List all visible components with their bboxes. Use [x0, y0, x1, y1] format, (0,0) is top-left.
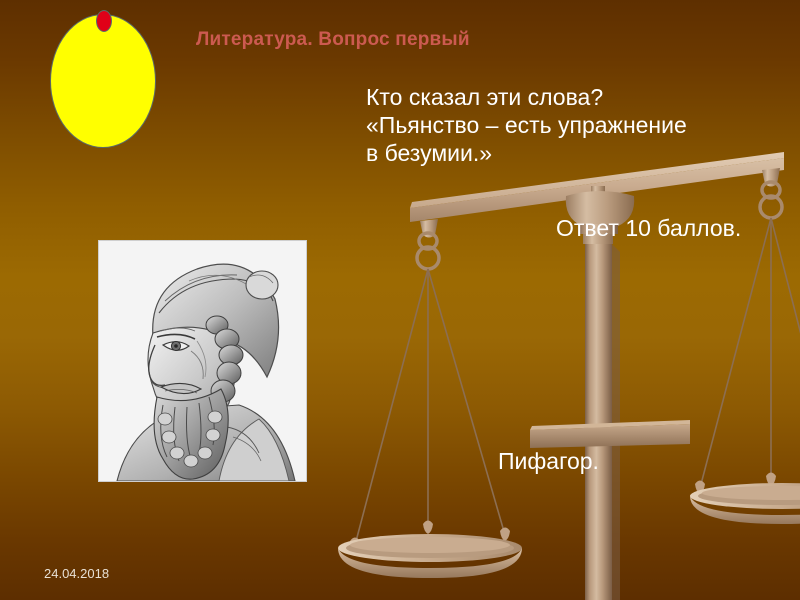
- left-pan-assembly: [338, 233, 522, 578]
- question-line-2: «Пьянство – есть упражнение: [366, 111, 766, 139]
- slide-date: 24.04.2018: [44, 566, 109, 581]
- red-dot-icon: [96, 10, 112, 32]
- question-line-3: в безумии.»: [366, 139, 766, 167]
- question-line-1: Кто сказал эти слова?: [366, 83, 766, 111]
- presentation-slide: Литература. Вопрос первый Кто сказал эти…: [0, 0, 800, 600]
- scale-crossbar: [530, 420, 690, 448]
- answer-label: Пифагор.: [498, 448, 599, 475]
- question-text: Кто сказал эти слова? «Пьянство – есть у…: [366, 83, 766, 167]
- page-title: Литература. Вопрос первый: [196, 29, 470, 51]
- pythagoras-portrait: [98, 240, 307, 482]
- portrait-engraving-graphic: [99, 241, 306, 481]
- yellow-circle: [50, 14, 156, 148]
- decorative-circle-group: [48, 10, 160, 152]
- points-label: Ответ 10 баллов.: [556, 215, 741, 242]
- scale-column: [583, 234, 620, 600]
